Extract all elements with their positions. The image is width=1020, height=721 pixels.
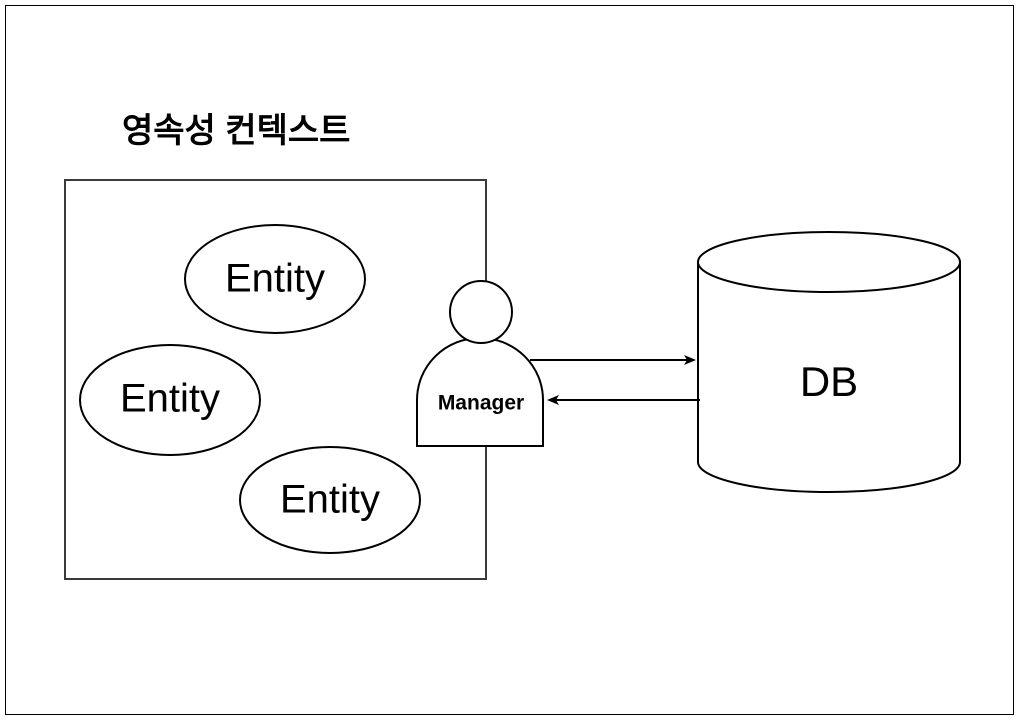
database-node[interactable]: DB: [698, 232, 960, 492]
manager-label: Manager: [438, 392, 524, 415]
diagram-canvas: 영속성 컨텍스트 Entity Entity Entity DB: [0, 0, 1020, 721]
entity-label: Entity: [120, 377, 220, 421]
manager-actor[interactable]: Manager: [417, 281, 543, 446]
entity-node[interactable]: Entity: [185, 225, 365, 333]
persistence-context-title: 영속성 컨텍스트: [122, 112, 350, 150]
entity-node[interactable]: Entity: [80, 345, 260, 455]
entity-node[interactable]: Entity: [240, 447, 420, 553]
database-label: DB: [800, 358, 858, 405]
person-head-icon: [450, 281, 512, 343]
entity-label: Entity: [280, 478, 380, 522]
diagram-svg: 영속성 컨텍스트 Entity Entity Entity DB: [0, 0, 1020, 721]
entity-label: Entity: [225, 257, 325, 301]
cylinder-top-icon: [698, 232, 960, 292]
